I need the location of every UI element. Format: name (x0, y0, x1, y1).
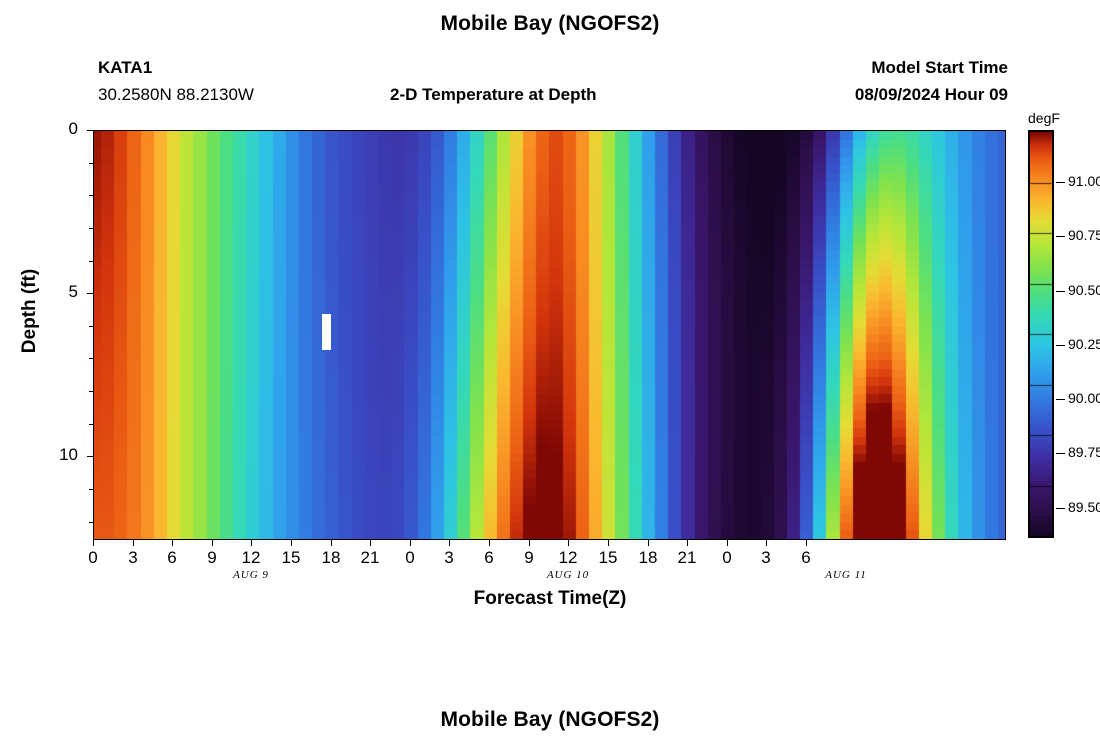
x-axis-tick (212, 539, 213, 546)
y-axis-title: Depth (ft) (19, 221, 41, 401)
missing-data-patch (322, 314, 331, 350)
x-axis-tick (449, 539, 450, 546)
colorbar-tick (1056, 508, 1065, 509)
model-start-time-label: Model Start Time (871, 58, 1008, 78)
bottom-title: Mobile Bay (NGOFS2) (0, 708, 1100, 732)
x-axis-tick (568, 539, 569, 546)
colorbar (1028, 130, 1054, 538)
x-axis-tick-label: 9 (509, 548, 549, 568)
page-title: Mobile Bay (NGOFS2) (0, 12, 1100, 36)
x-axis-tick (806, 539, 807, 546)
y-axis-minor-tick (89, 424, 94, 425)
x-axis-day-label: AUG 11 (801, 569, 891, 581)
colorbar-canvas (1030, 132, 1052, 536)
x-axis-tick (489, 539, 490, 546)
y-axis-minor-tick (89, 358, 94, 359)
x-axis-day-label: AUG 9 (206, 569, 296, 581)
colorbar-tick (1056, 236, 1065, 237)
x-axis-tick (370, 539, 371, 546)
y-axis-tick (87, 130, 94, 131)
x-axis-tick-label: 18 (311, 548, 351, 568)
station-id-label: KATA1 (98, 58, 152, 78)
x-axis-tick-label: 12 (231, 548, 271, 568)
colorbar-tick (1056, 291, 1065, 292)
colorbar-tick-label: 90.250 (1068, 336, 1100, 352)
x-axis-tick-label: 21 (667, 548, 707, 568)
x-axis-tick-label: 15 (271, 548, 311, 568)
x-axis-tick (93, 539, 94, 546)
x-axis-tick (291, 539, 292, 546)
x-axis-tick-label: 6 (469, 548, 509, 568)
colorbar-tick (1056, 399, 1065, 400)
model-start-time-value: 08/09/2024 Hour 09 (855, 85, 1008, 105)
x-axis-tick-label: 0 (73, 548, 113, 568)
y-axis-minor-tick (89, 522, 94, 523)
heatmap-canvas (94, 131, 1005, 539)
x-axis-tick-label: 3 (746, 548, 786, 568)
colorbar-tick-label: 91.000 (1068, 173, 1100, 189)
heatmap-plot-area (93, 130, 1006, 540)
y-axis-minor-tick (89, 228, 94, 229)
plot-subtitle: 2-D Temperature at Depth (390, 85, 597, 105)
x-axis-tick-label: 3 (113, 548, 153, 568)
y-axis-tick-label: 0 (0, 119, 78, 139)
colorbar-tick (1056, 182, 1065, 183)
x-axis-tick (410, 539, 411, 546)
x-axis-tick-label: 21 (350, 548, 390, 568)
x-axis-tick (251, 539, 252, 546)
colorbar-tick-label: 90.750 (1068, 227, 1100, 243)
colorbar-tick-label: 90.500 (1068, 282, 1100, 298)
x-axis-title: Forecast Time(Z) (0, 588, 1100, 610)
x-axis-tick-label: 18 (628, 548, 668, 568)
colorbar-tick (1056, 345, 1065, 346)
x-axis-day-label: AUG 10 (523, 569, 613, 581)
x-axis-tick-label: 15 (588, 548, 628, 568)
y-axis-minor-tick (89, 489, 94, 490)
colorbar-tick (1056, 453, 1065, 454)
x-axis-tick-label: 9 (192, 548, 232, 568)
colorbar-tick-label: 89.750 (1068, 444, 1100, 460)
station-coordinates-label: 30.2580N 88.2130W (98, 85, 254, 105)
y-axis-tick (87, 456, 94, 457)
x-axis-tick-label: 0 (707, 548, 747, 568)
x-axis-tick (331, 539, 332, 546)
x-axis-tick (766, 539, 767, 546)
y-axis-minor-tick (89, 391, 94, 392)
y-axis-minor-tick (89, 195, 94, 196)
x-axis-tick-label: 6 (786, 548, 826, 568)
colorbar-tick-label: 90.000 (1068, 390, 1100, 406)
x-axis-tick-label: 0 (390, 548, 430, 568)
x-axis-tick-label: 3 (429, 548, 469, 568)
y-axis-tick-label: 10 (0, 445, 78, 465)
x-axis-tick (648, 539, 649, 546)
x-axis-tick (608, 539, 609, 546)
y-axis-minor-tick (89, 163, 94, 164)
y-axis-tick (87, 293, 94, 294)
y-axis-minor-tick (89, 261, 94, 262)
x-axis-tick-label: 6 (152, 548, 192, 568)
colorbar-tick-label: 89.500 (1068, 499, 1100, 515)
x-axis-tick (687, 539, 688, 546)
x-axis-tick (529, 539, 530, 546)
colorbar-units-label: degF (1028, 110, 1060, 126)
x-axis-tick (172, 539, 173, 546)
x-axis-tick (133, 539, 134, 546)
x-axis-tick (727, 539, 728, 546)
x-axis-tick-label: 12 (548, 548, 588, 568)
y-axis-minor-tick (89, 326, 94, 327)
